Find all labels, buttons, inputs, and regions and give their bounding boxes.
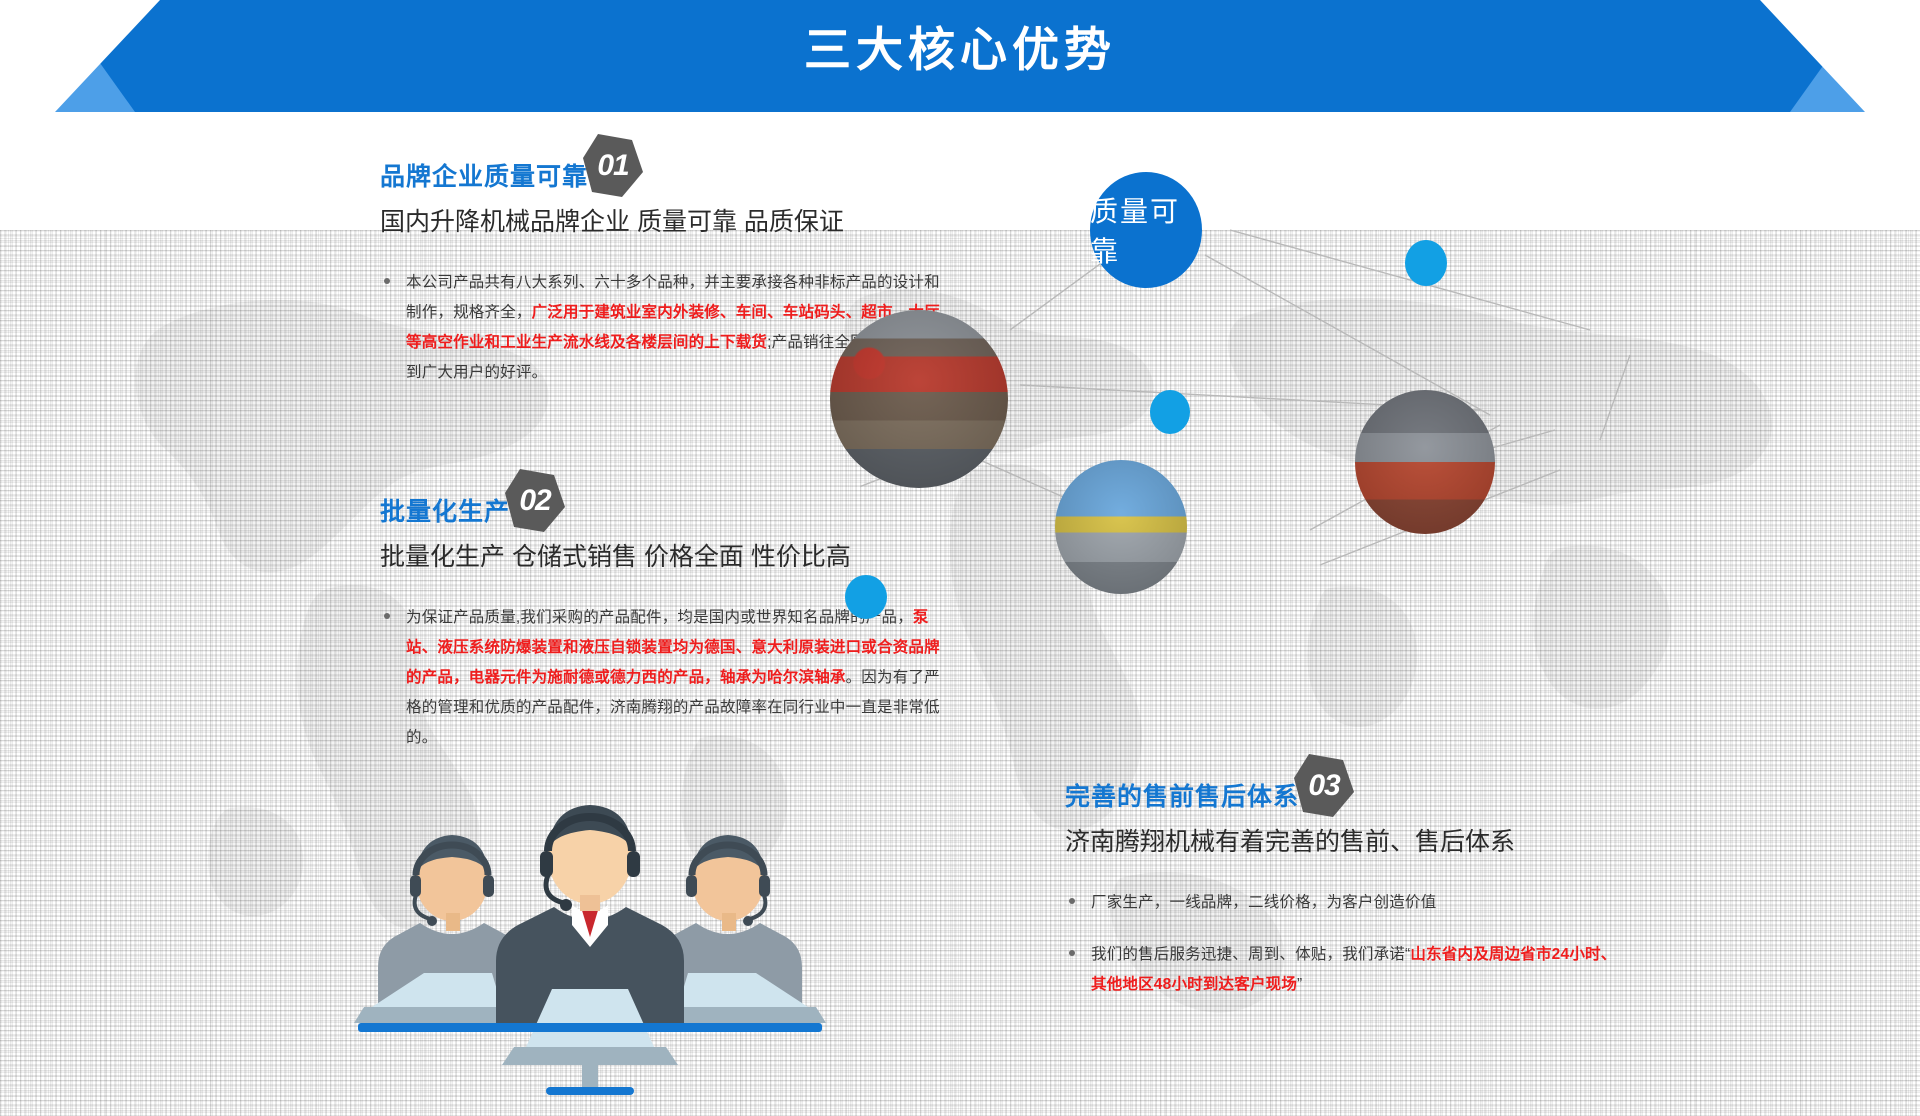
text-run-plain: ” [1297, 976, 1302, 993]
advantage-section-03: 完善的售前售后体系 03 济南腾翔机械有着完善的售前、售后体系 厂家生产，一线品… [1065, 780, 1625, 1022]
section-02-title: 批量化生产 [380, 495, 510, 529]
section-03-bullets: 厂家生产，一线品牌，二线价格，为客户创造价值 我们的售后服务迅捷、周到、体贴，我… [1065, 888, 1625, 1000]
section-03-subtitle: 济南腾翔机械有着完善的售前、售后体系 [1065, 822, 1625, 862]
bullet-text: 我们的售后服务迅捷、周到、体贴，我们承诺“山东省内及周边省市24小时、其他地区4… [1091, 940, 1625, 1000]
page-title: 三大核心优势 [0, 0, 1920, 100]
list-item: 我们的售后服务迅捷、周到、体贴，我们承诺“山东省内及周边省市24小时、其他地区4… [1065, 940, 1625, 1000]
quality-bubble: 质量可靠 [1090, 172, 1202, 288]
section-02-subtitle: 批量化生产 仓储式销售 价格全面 性价比高 [380, 537, 940, 577]
section-01-header: 品牌企业质量可靠 01 [380, 160, 940, 200]
bullet-text: 为保证产品质量,我们采购的产品配件，均是国内或世界知名品牌的产品，泵站、液压系统… [406, 603, 940, 753]
bullet-dot-icon [1065, 888, 1091, 904]
section-02-bullets: 为保证产品质量,我们采购的产品配件，均是国内或世界知名品牌的产品，泵站、液压系统… [380, 603, 940, 753]
section-03-number-badge: 03 [1293, 752, 1355, 820]
node-dot-top-right [1405, 240, 1447, 286]
node-dot-center [1150, 390, 1190, 434]
network-graphic: 质量可靠 [860, 140, 1920, 610]
node-dot-bottom-left [845, 575, 887, 619]
text-run-plain: 厂家生产，一线品牌，二线价格，为客户创造价值 [1091, 894, 1436, 911]
factory-machine-photo [830, 310, 1008, 488]
section-02-header: 批量化生产 02 [380, 495, 940, 535]
section-03-title: 完善的售前售后体系 [1065, 780, 1299, 814]
slide-root: 三大核心优势 品牌企业质量可靠 01 国内升降机械品牌企业 质量可靠 品质保证 … [0, 0, 1920, 1116]
page-banner: 三大核心优势 [0, 0, 1920, 112]
bullet-dot-icon [380, 603, 406, 619]
section-01-title: 品牌企业质量可靠 [380, 160, 588, 194]
section-03-header: 完善的售前售后体系 03 [1065, 780, 1625, 820]
quality-bubble-label: 质量可靠 [1090, 190, 1202, 270]
street-lifts-photo [1355, 390, 1495, 534]
bullet-text: 厂家生产，一线品牌，二线价格，为客户创造价值 [1091, 888, 1436, 918]
advantage-section-02: 批量化生产 02 批量化生产 仓储式销售 价格全面 性价比高 为保证产品质量,我… [380, 495, 940, 775]
yard-lifts-photo [1055, 460, 1187, 594]
call-center-illustration [350, 795, 830, 1095]
section-01-subtitle: 国内升降机械品牌企业 质量可靠 品质保证 [380, 202, 940, 242]
section-02-number-badge: 02 [504, 467, 566, 535]
network-connector-lines [860, 140, 1920, 610]
section-01-number: 01 [582, 132, 644, 200]
bullet-dot-icon [380, 268, 406, 284]
text-run-plain: 我们的售后服务迅捷、周到、体贴，我们承诺“ [1091, 946, 1410, 963]
section-01-number-badge: 01 [582, 132, 644, 200]
list-item: 为保证产品质量,我们采购的产品配件，均是国内或世界知名品牌的产品，泵站、液压系统… [380, 603, 940, 753]
bullet-dot-icon [1065, 940, 1091, 956]
section-02-number: 02 [504, 467, 566, 535]
list-item: 厂家生产，一线品牌，二线价格，为客户创造价值 [1065, 888, 1625, 918]
section-03-number: 03 [1293, 752, 1355, 820]
text-run-plain: 为保证产品质量,我们采购的产品配件，均是国内或世界知名品牌的产品， [406, 609, 913, 626]
